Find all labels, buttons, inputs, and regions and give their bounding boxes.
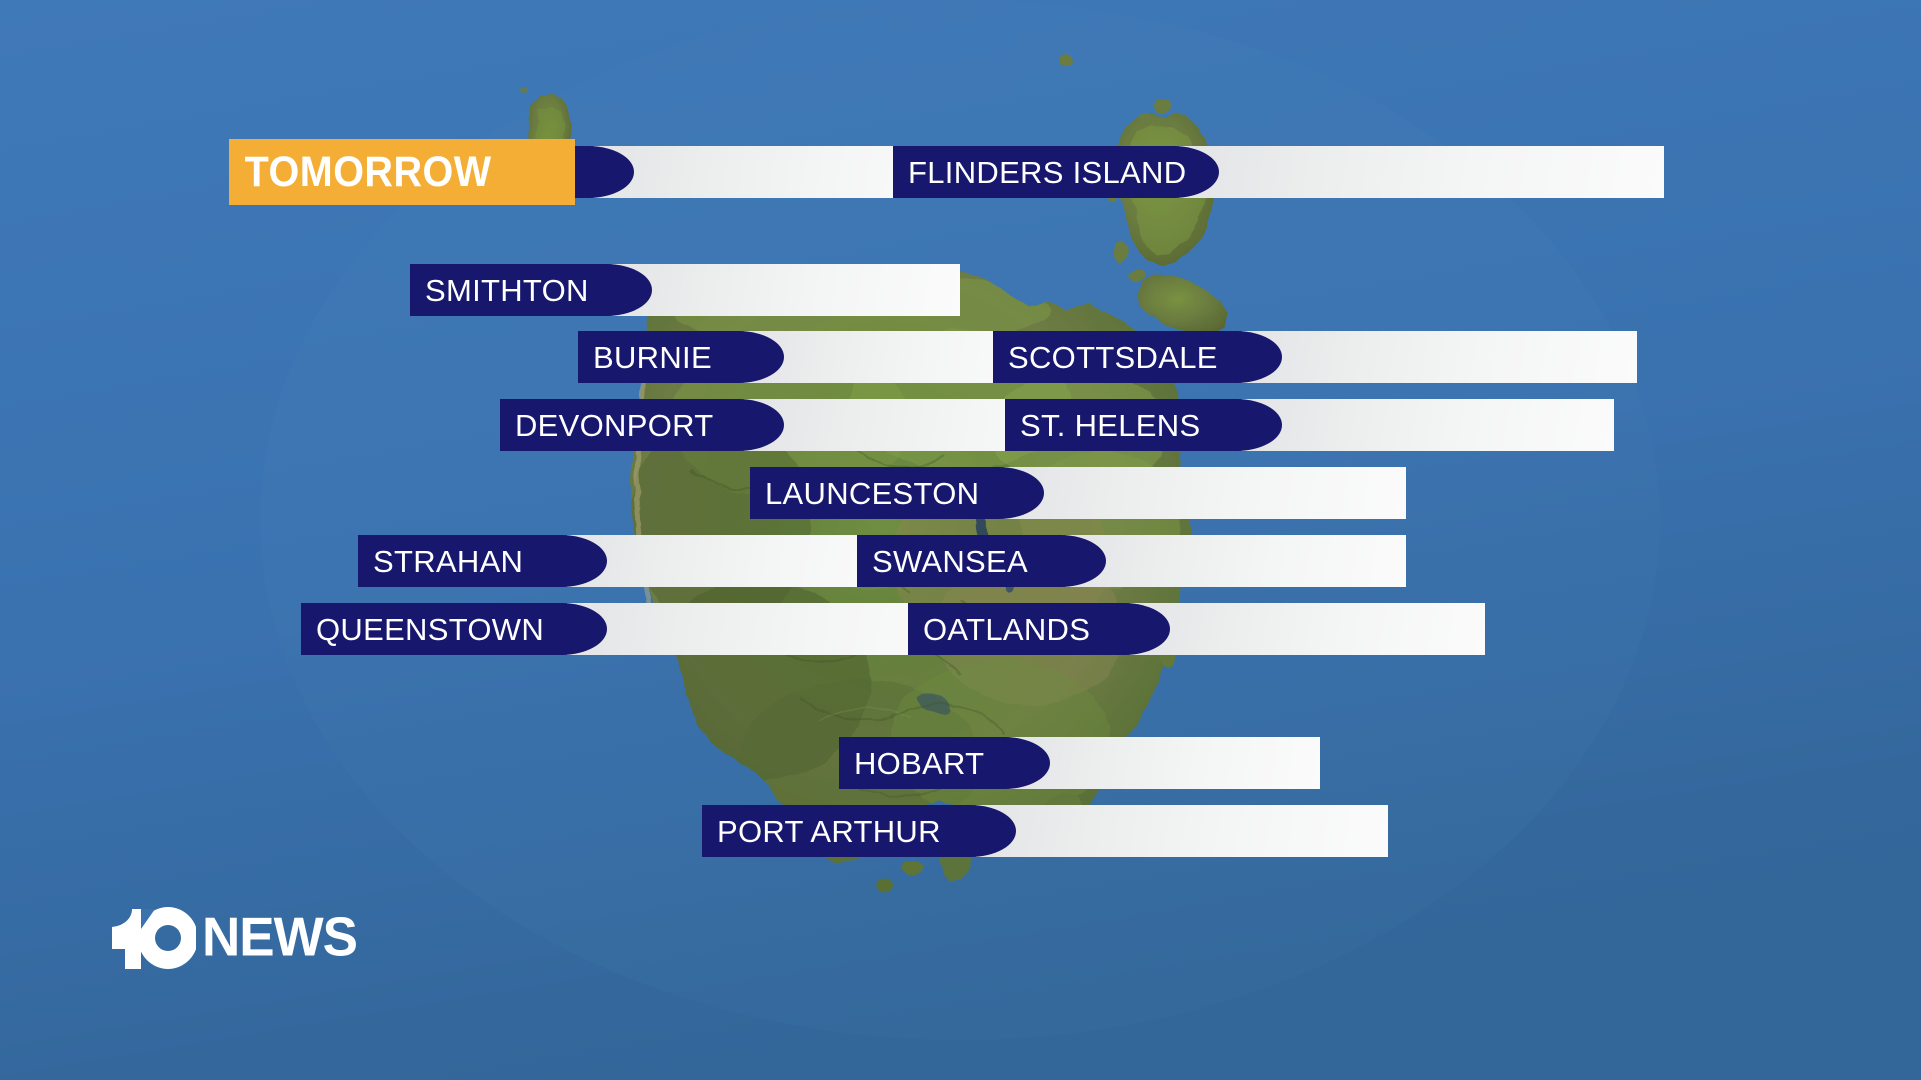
city-label-row[interactable]: ST. HELENS	[1005, 399, 1610, 451]
temperature-panel	[612, 264, 960, 316]
city-label-row[interactable]: HOBART	[839, 737, 1316, 789]
city-name-plate: ST. HELENS	[1005, 399, 1238, 451]
city-name-label: DEVONPORT	[515, 410, 714, 441]
city-name-label: QUEENSTOWN	[316, 614, 544, 645]
city-label-row[interactable]: QUEENSTOWN	[301, 603, 971, 655]
city-name-plate: SMITHTON	[410, 264, 608, 316]
city-label-row[interactable]: BURNIE	[578, 331, 1045, 383]
city-label-row[interactable]: FLINDERS ISLAND	[893, 146, 1660, 198]
city-name-plate: LAUNCESTON	[750, 467, 1000, 519]
temperature-panel	[976, 805, 1388, 857]
city-name-label: STRAHAN	[373, 546, 523, 577]
city-name-label: PORT ARTHUR	[717, 816, 941, 847]
temperature-panel	[1179, 146, 1664, 198]
weather-map-screen: TOMORROW KING ISLANDFLINDERS ISLANDSMITH…	[0, 0, 1921, 1080]
temperature-panel	[1242, 331, 1637, 383]
city-name-label: SCOTTSDALE	[1008, 342, 1218, 373]
city-name-plate: SWANSEA	[857, 535, 1062, 587]
city-name-label: ST. HELENS	[1020, 410, 1200, 441]
city-name-label: SWANSEA	[872, 546, 1028, 577]
temperature-panel	[1242, 399, 1614, 451]
city-name-plate: DEVONPORT	[500, 399, 740, 451]
ten-logo-icon	[108, 905, 196, 969]
temperature-panel	[1010, 737, 1320, 789]
city-label-row[interactable]: PORT ARTHUR	[702, 805, 1384, 857]
city-name-plate: FLINDERS ISLAND	[893, 146, 1175, 198]
temperature-panel	[1066, 535, 1406, 587]
city-name-plate: HOBART	[839, 737, 1006, 789]
city-name-label: FLINDERS ISLAND	[908, 157, 1186, 188]
city-name-label: BURNIE	[593, 342, 712, 373]
tomorrow-banner: TOMORROW	[229, 139, 575, 205]
city-name-plate: BURNIE	[578, 331, 740, 383]
city-label-row[interactable]: SMITHTON	[410, 264, 956, 316]
news-wordmark: NEWS	[202, 905, 357, 968]
city-name-plate: STRAHAN	[358, 535, 563, 587]
city-label-row[interactable]: SCOTTSDALE	[993, 331, 1633, 383]
city-name-plate: SCOTTSDALE	[993, 331, 1238, 383]
city-label-row[interactable]: STRAHAN	[358, 535, 899, 587]
city-name-plate: QUEENSTOWN	[301, 603, 563, 655]
city-label-row[interactable]: SWANSEA	[857, 535, 1402, 587]
network-logo: NEWS	[108, 903, 358, 971]
city-name-plate: PORT ARTHUR	[702, 805, 972, 857]
city-name-plate: OATLANDS	[908, 603, 1126, 655]
temperature-panel	[1130, 603, 1485, 655]
city-label-row[interactable]: LAUNCESTON	[750, 467, 1402, 519]
city-label-row[interactable]: OATLANDS	[908, 603, 1481, 655]
city-name-label: HOBART	[854, 748, 984, 779]
city-name-label: LAUNCESTON	[765, 478, 979, 509]
city-name-label: SMITHTON	[425, 275, 589, 306]
temperature-panel	[1004, 467, 1406, 519]
tomorrow-banner-label: TOMORROW	[229, 148, 492, 197]
temperature-panel	[567, 535, 903, 587]
city-name-label: OATLANDS	[923, 614, 1090, 645]
